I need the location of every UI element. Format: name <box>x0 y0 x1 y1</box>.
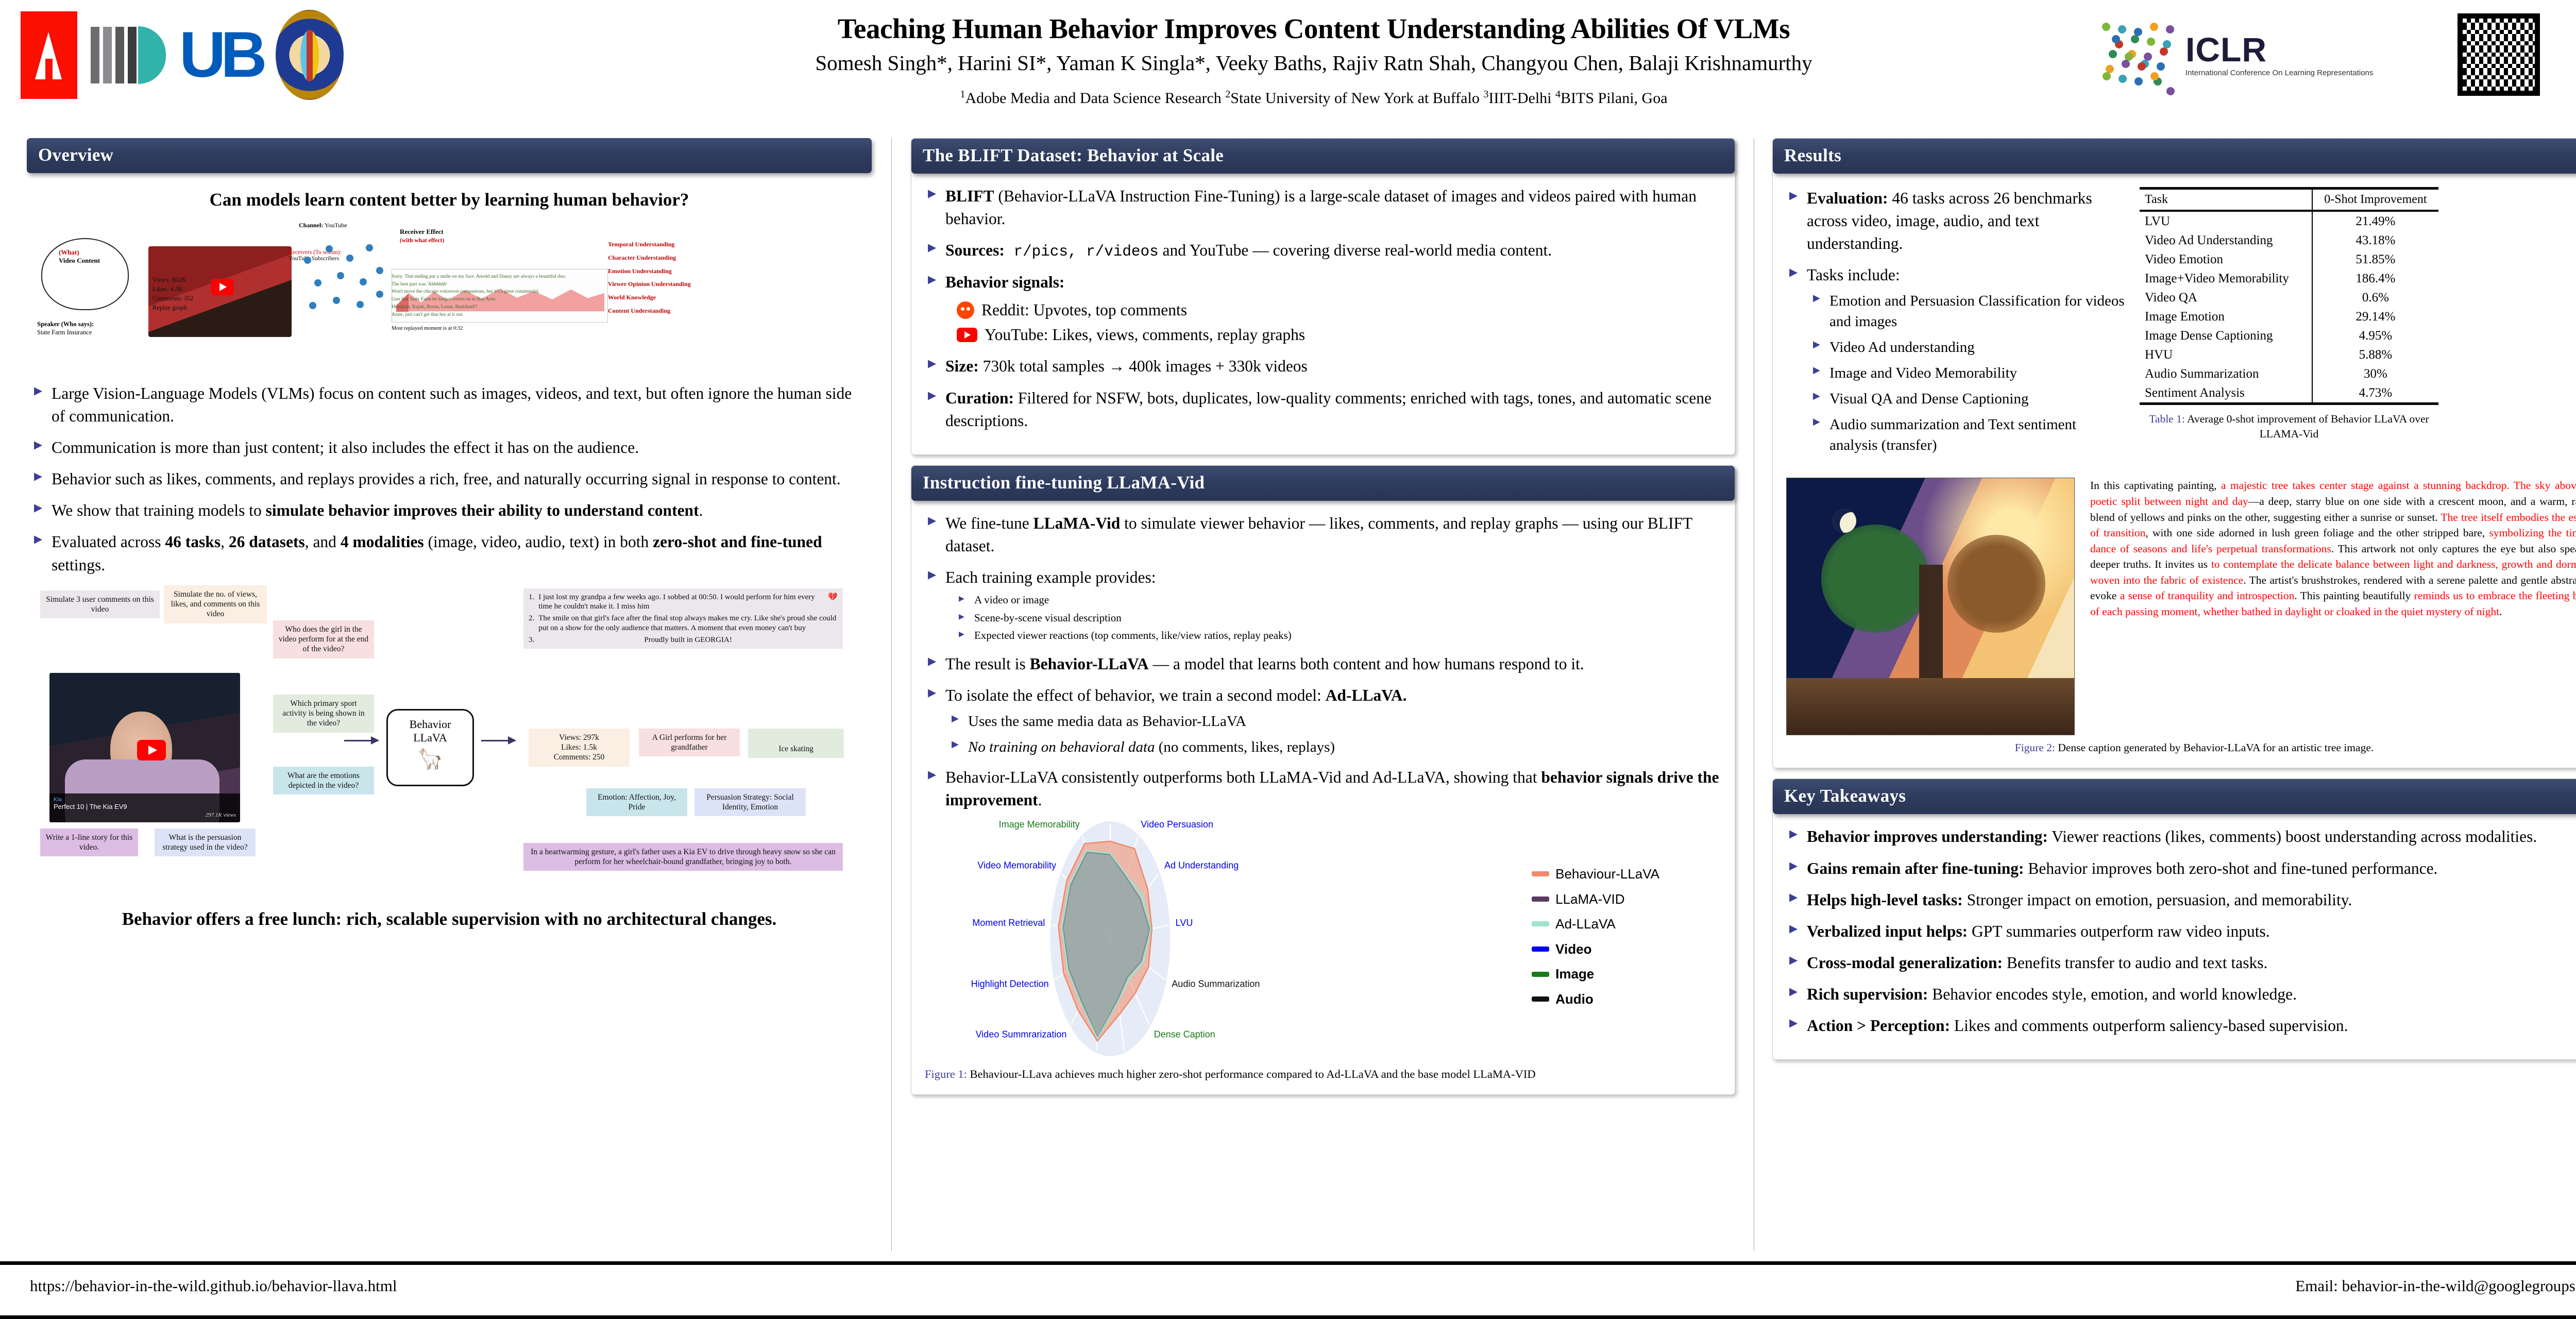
thumb-title: Perfect 10 | The Kia EV9 <box>54 803 127 810</box>
signal-youtube-label: YouTube: Likes, views, comments, replay … <box>985 324 1305 346</box>
table-cell-improvement: 4.95% <box>2312 326 2438 345</box>
play-button-icon <box>137 740 166 760</box>
finetune-sublist: A video or image Scene-by-scene visual d… <box>945 592 1721 644</box>
video-stats-list: Views: 802K Likes: 4.3K Comments: 352 Re… <box>152 275 194 313</box>
table-cell-task: Image Emotion <box>2140 307 2312 326</box>
table-cell-improvement: 21.49% <box>2312 211 2438 231</box>
project-url[interactable]: https://behavior-in-the-wild.github.io/b… <box>30 1277 397 1295</box>
overview-bullet-2: Communication is more than just content;… <box>31 436 868 459</box>
finetune-bullet-2: Each training example provides: A video … <box>925 566 1721 644</box>
iiit-delhi-logo <box>91 24 166 86</box>
iclr-subtitle: International Conference On Learning Rep… <box>2185 69 2373 77</box>
legend-label: Image <box>1555 967 1594 982</box>
prompt-card-story: Write a 1-line story for this video. <box>40 828 138 857</box>
radar-axis-label: Ad Understanding <box>1164 860 1239 870</box>
affil-1: Adobe Media and Data Science Research <box>965 90 1225 107</box>
radar-axis-label: Dense Caption <box>1154 1029 1215 1040</box>
qr-code[interactable] <box>2458 13 2540 96</box>
output-answer-persuasion: Persuasion Strategy: Social Identity, Em… <box>694 788 806 817</box>
table-row: Image+Video Memorability186.4% <box>2140 269 2438 288</box>
takeaway-item: Gains remain after fine-tuning: Behavior… <box>1786 857 2576 880</box>
finetune-bullet-list: We fine-tune LLaMA-Vid to simulate viewe… <box>925 512 1721 811</box>
legend-label: Audio <box>1555 992 1594 1007</box>
table-row: Video Ad Understanding43.18% <box>2140 231 2438 250</box>
table-cell-improvement: 29.14% <box>2312 307 2438 326</box>
takeaway-item: Rich supervision: Behavior encodes style… <box>1786 983 2576 1006</box>
legend-swatch-icon <box>1532 871 1549 876</box>
column-middle: The BLIFT Dataset: Behavior at Scale BLI… <box>911 138 1735 1105</box>
overview-bullet-list: Large Vision-Language Models (VLMs) focu… <box>31 382 868 577</box>
understanding-task-labels: Temporal Understanding Character Underst… <box>608 238 691 318</box>
replay-note: Most replayed moment is at 0:32 <box>392 326 463 331</box>
legend-label: LLaMA-VID <box>1555 892 1624 907</box>
takeaway-item: Helps high-level tasks: Stronger impact … <box>1786 889 2576 911</box>
section-header-finetuning: Instruction fine-tuning LLaMA-Vid <box>911 466 1735 501</box>
legend-swatch-icon <box>1532 921 1549 926</box>
prompt-card-emotion: What are the emotions depicted in the vi… <box>273 767 374 795</box>
caption-segment: , with one side adorned in lush green fo… <box>2145 527 2489 539</box>
legend-item-series: Behaviour-LLaVA <box>1532 867 1659 882</box>
thumb-views: 297.1K views <box>206 812 236 818</box>
legend-item-modality: Image <box>1532 967 1659 982</box>
prompt-card-simulate-comments: Simulate 3 user comments on this video <box>40 590 160 619</box>
takeaway-list: Behavior improves understanding: Viewer … <box>1786 825 2576 1037</box>
legend-swatch-icon <box>1532 972 1549 977</box>
finetune-bullet-4: To isolate the effect of behavior, we tr… <box>925 684 1721 757</box>
overview-bullet-1: Large Vision-Language Models (VLMs) focu… <box>31 382 868 428</box>
prompt-card-simulate-stats: Simulate the no. of views, likes, and co… <box>164 585 267 623</box>
table-cell-improvement: 43.18% <box>2312 231 2438 250</box>
iclr-wordmark: ICLR <box>2185 30 2267 69</box>
poster-title: Teaching Human Behavior Improves Content… <box>567 12 2061 45</box>
thumb-channel: Kia <box>54 797 236 803</box>
output-story: In a heartwarming gesture, a girl's fath… <box>523 843 843 871</box>
comment-list: Sorry. That ending put a smile on my fac… <box>392 273 608 318</box>
blift-bullet-curation: Curation: Filtered for NSFW, bots, dupli… <box>925 387 1721 432</box>
column-divider-1 <box>891 138 892 1251</box>
overview-question: Can models learn content better by learn… <box>31 190 868 210</box>
panel-takeaways: Key Takeaways Behavior improves understa… <box>1772 779 2576 1060</box>
radar-axis-label: Video Persuasion <box>1141 820 1213 830</box>
table-cell-task: Image Dense Captioning <box>2140 326 2312 345</box>
legend-item-series: LLaMA-VID <box>1532 892 1659 907</box>
caption-segment: . This painting beautifully <box>2294 589 2414 602</box>
artistic-tree-painting <box>1786 478 2075 735</box>
llama-icon: 🦙 <box>388 747 472 771</box>
bits-pilani-logo <box>276 10 344 100</box>
table-row: LVU21.49% <box>2140 211 2438 231</box>
overview-bullet-5: Evaluated across 46 tasks, 26 datasets, … <box>31 531 868 576</box>
figure-2-caption: Figure 2: Dense caption generated by Beh… <box>1786 741 2576 754</box>
overview-bullet-4: We show that training models to simulate… <box>31 499 868 522</box>
figure-1-caption: Figure 1: Behaviour-LLava achieves much … <box>925 1068 1721 1081</box>
table-row: Audio Summarization30% <box>2140 364 2438 383</box>
radar-svg: Video EmotionVideo PersuasionAd Understa… <box>925 820 1450 1057</box>
finetune-bullet-1: We fine-tune LLaMA-Vid to simulate viewe… <box>925 512 1721 557</box>
radar-axis-label: Video Memorability <box>977 860 1056 870</box>
caption-segment: In this captivating painting, <box>2090 479 2221 492</box>
results-subtask-4: Visual QA and Dense Captioning <box>1807 388 2126 409</box>
blift-bullet-list: BLIFT (Behavior-LLaVA Instruction Fine-T… <box>925 185 1721 432</box>
receiver-effect-label: Receiver Effect (with what effect) <box>400 228 444 244</box>
dense-caption-text: In this captivating painting, a majestic… <box>2090 478 2576 619</box>
column-divider-2 <box>1754 138 1754 1251</box>
legend-label: Video <box>1555 942 1591 957</box>
radar-axis-label: LVU <box>1176 918 1193 928</box>
results-bullet-evaluation: Evaluation: 46 tasks across 26 benchmark… <box>1786 187 2126 255</box>
legend-label: Ad-LLaVA <box>1555 917 1616 932</box>
legend-item-series: Ad-LLaVA <box>1532 917 1659 932</box>
table-cell-improvement: 4.73% <box>2312 383 2438 404</box>
network-graph-icon <box>299 241 397 318</box>
radar-axis-label: Video Summrarization <box>976 1029 1067 1040</box>
panel-blift: The BLIFT Dataset: Behavior at Scale BLI… <box>911 138 1735 455</box>
table-row: Video QA0.6% <box>2140 288 2438 307</box>
channel-label: Channel: YouTube <box>299 222 347 229</box>
results-table: Task 0-Shot Improvement LVU21.49%Video A… <box>2140 187 2438 405</box>
results-bullet-tasks: Tasks include: Emotion and Persuasion Cl… <box>1786 264 2126 455</box>
table-header-improvement: 0-Shot Improvement <box>2312 189 2438 211</box>
signal-reddit: Reddit: Upvotes, top comments <box>957 299 1721 322</box>
table-cell-task: Sentiment Analysis <box>2140 383 2312 404</box>
table-cell-improvement: 0.6% <box>2312 288 2438 307</box>
contact-email[interactable]: Email: behavior-in-the-wild@googlegroups… <box>2295 1277 2576 1295</box>
table-cell-task: Audio Summarization <box>2140 364 2312 383</box>
arrow-to-model <box>344 740 378 741</box>
section-header-overview: Overview <box>27 138 872 173</box>
table-cell-task: Image+Video Memorability <box>2140 269 2312 288</box>
output-stats: Views: 297k Likes: 1.5k Comments: 250 <box>529 729 630 767</box>
legend-item-modality: Video <box>1532 942 1659 957</box>
table-cell-task: HVU <box>2140 345 2312 364</box>
results-subtask-5: Audio summarization and Text sentiment a… <box>1807 414 2126 455</box>
caption-segment: a sense of tranquility and introspection <box>2120 589 2295 602</box>
table-cell-task: LVU <box>2140 211 2312 231</box>
output-answer-who: A Girl performs for her grandfather <box>639 729 740 757</box>
table-header-task: Task <box>2140 189 2312 211</box>
reddit-icon <box>957 301 974 319</box>
legend-label: Behaviour-LLaVA <box>1555 867 1659 882</box>
poster-root: UB Teaching Human Behavior Improves Cont… <box>0 0 2576 1319</box>
finetune-bullet-5: Behavior-LLaVA consistently outperforms … <box>925 766 1721 811</box>
affil-2: State University of New York at Buffalo <box>1230 90 1483 107</box>
results-subtask-2: Video Ad understanding <box>1807 337 2126 358</box>
radar-axis-label: Audio Summarization <box>1172 978 1260 989</box>
university-at-buffalo-logo: UB <box>179 27 262 83</box>
speaker-caption: Speaker (Who says):State Farm Insurance <box>37 320 145 336</box>
output-answer-emotion: Emotion: Affection, Joy, Pride <box>586 788 687 817</box>
adllava-sub-1: Uses the same media data as Behavior-LLa… <box>945 711 1721 732</box>
radar-legend: Behaviour-LLaVALLaMA-VIDAd-LLaVAVideoIma… <box>1532 867 1659 1017</box>
column-right: Results Evaluation: 46 tasks across 26 b… <box>1772 138 2576 1070</box>
finetune-sub-2: Scene-by-scene visual description <box>945 610 1721 627</box>
table-cell-task: Video QA <box>2140 288 2312 307</box>
table-row: HVU5.88% <box>2140 345 2438 364</box>
blift-bullet-signals: Behavior signals: Reddit: Upvotes, top c… <box>925 271 1721 346</box>
table-cell-task: Video Emotion <box>2140 250 2312 269</box>
prompt-card-who: Who does the girl in the video perform f… <box>273 620 374 658</box>
figure-1-radar-chart: Video EmotionVideo PersuasionAd Understa… <box>925 820 1721 1062</box>
affiliation-list: 1Adobe Media and Data Science Research 2… <box>567 89 2061 107</box>
output-comments: 1.I just lost my grandpa a few weeks ago… <box>523 588 843 649</box>
logo-strip: UB <box>21 7 484 103</box>
legend-swatch-icon <box>1532 946 1549 952</box>
takeaway-item: Cross-modal generalization: Benefits tra… <box>1786 952 2576 974</box>
iclr-dot-pattern-icon <box>2097 19 2174 91</box>
takeaway-item: Verbalized input helps: GPT summaries ou… <box>1786 920 2576 943</box>
model-box-behavior-llava: Behavior LLaVA 🦙 <box>386 709 474 786</box>
adobe-logo <box>21 11 77 99</box>
table-row: Video Emotion51.85% <box>2140 250 2438 269</box>
video-content-what: (What) Video Content <box>59 248 100 265</box>
youtube-icon <box>957 328 977 342</box>
legend-swatch-icon <box>1532 897 1549 902</box>
section-header-results: Results <box>1773 139 2576 174</box>
legend-swatch-icon <box>1532 996 1549 1002</box>
takeaway-item: Action > Perception: Likes and comments … <box>1786 1014 2576 1037</box>
blift-bullet-size: Size: 730k total samples → 400k images +… <box>925 355 1721 378</box>
output-answer-sport: Ice skating <box>748 729 844 758</box>
results-subtask-1: Emotion and Persuasion Classification fo… <box>1807 291 2126 332</box>
affil-3: IIIT-Delhi <box>1488 90 1555 107</box>
arrow-from-model <box>481 740 515 741</box>
affil-4: BITS Pilani, Goa <box>1561 90 1668 107</box>
footer-rule-bottom <box>0 1315 2576 1319</box>
table-row: Sentiment Analysis4.73% <box>2140 383 2438 404</box>
table-cell-improvement: 5.88% <box>2312 345 2438 364</box>
finetune-sub-3: Expected viewer reactions (top comments,… <box>945 628 1721 644</box>
table-row: Image Dense Captioning4.95% <box>2140 326 2438 345</box>
section-header-blift: The BLIFT Dataset: Behavior at Scale <box>911 139 1735 174</box>
blift-bullet-definition: BLIFT (Behavior-LLaVA Instruction Fine-T… <box>925 185 1721 230</box>
table-1-caption: Table 1: Average 0-shot improvement of B… <box>2140 412 2438 442</box>
radar-axis-label: Image Memorability <box>999 820 1080 830</box>
affil-sup-3: 3 <box>1483 89 1488 100</box>
panel-finetuning: Instruction fine-tuning LLaMA-Vid We fin… <box>911 465 1735 1095</box>
prompt-card-sport: Which primary sport activity is being sh… <box>273 695 374 733</box>
results-bullet-list: Evaluation: 46 tasks across 26 benchmark… <box>1786 187 2126 455</box>
author-list: Somesh Singh*, Harini SI*, Yaman K Singl… <box>567 50 2061 75</box>
adllava-sublist: Uses the same media data as Behavior-LLa… <box>945 711 1721 757</box>
affil-sup-1: 1 <box>960 89 965 100</box>
table-cell-task: Video Ad Understanding <box>2140 231 2312 250</box>
results-subtask-3: Image and Video Memorability <box>1807 363 2126 383</box>
prompt-card-persuasion: What is the persuasion strategy used in … <box>155 828 256 857</box>
overview-bullet-3: Behavior such as likes, comments, and re… <box>31 468 868 491</box>
results-subtask-list: Emotion and Persuasion Classification fo… <box>1807 291 2126 455</box>
legend-item-modality: Audio <box>1532 992 1659 1007</box>
table-cell-improvement: 30% <box>2312 364 2438 383</box>
signal-youtube: YouTube: Likes, views, comments, replay … <box>957 324 1721 346</box>
table-cell-improvement: 51.85% <box>2312 250 2438 269</box>
takeaway-item: Behavior improves understanding: Viewer … <box>1786 825 2576 848</box>
affil-sup-2: 2 <box>1225 89 1230 100</box>
adllava-sub-2: No training on behavioral data (no comme… <box>945 737 1721 757</box>
table-cell-improvement: 186.4% <box>2312 269 2438 288</box>
video-thumbnail-kia: KiaPerfect 10 | The Kia EV9 297.1K views <box>49 673 240 822</box>
column-left: Overview Can models learn content better… <box>27 138 872 931</box>
section-header-takeaways: Key Takeaways <box>1773 779 2576 814</box>
table-row: Image Emotion29.14% <box>2140 307 2438 326</box>
finetune-bullet-3: The result is Behavior-LLaVA — a model t… <box>925 653 1721 675</box>
figure-behavior-llava-pipeline: Simulate 3 user comments on this video S… <box>31 585 868 894</box>
figure-receiver-effect: (What) Video Content Speaker (Who says):… <box>31 219 868 374</box>
overview-closing-statement: Behavior offers a free lunch: rich, scal… <box>31 907 868 931</box>
radar-axis-label: Highlight Detection <box>971 978 1049 989</box>
iclr-logo: ICLR International Conference On Learnin… <box>2097 13 2416 96</box>
radar-axis-label: Moment Retrieval <box>972 918 1045 928</box>
caption-segment: . <box>2499 605 2502 618</box>
footer-rule-top <box>0 1261 2576 1265</box>
finetune-sub-1: A video or image <box>945 592 1721 608</box>
signal-reddit-label: Reddit: Upvotes, top comments <box>981 299 1187 322</box>
blift-bullet-sources: Sources: r/pics, r/videos and YouTube — … <box>925 239 1721 262</box>
panel-results: Results Evaluation: 46 tasks across 26 b… <box>1772 138 2576 768</box>
affil-sup-4: 4 <box>1555 89 1561 100</box>
